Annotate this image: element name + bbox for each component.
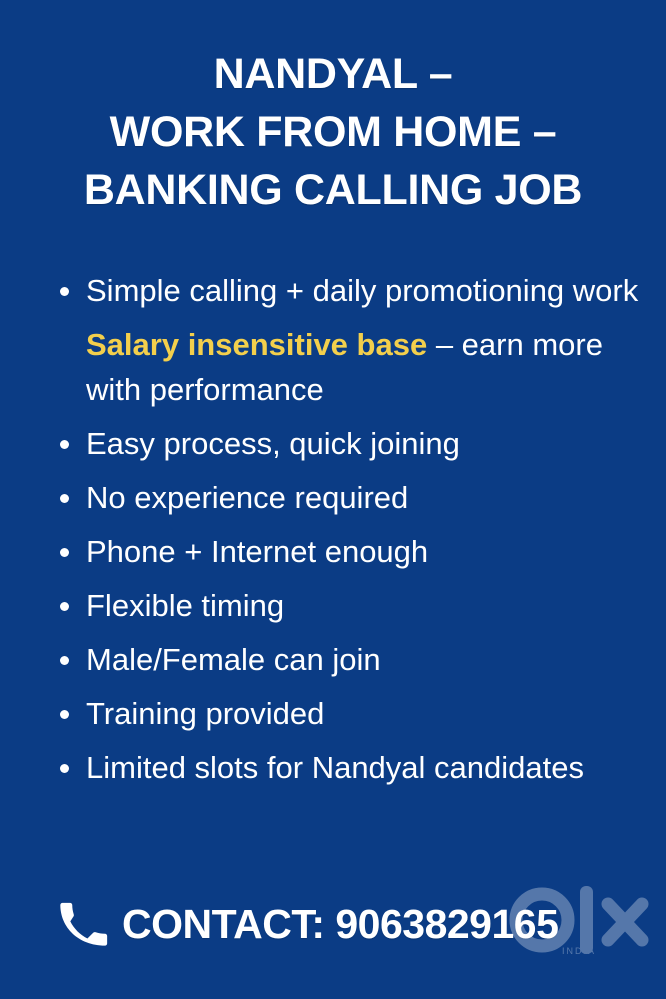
list-item-salary: Salary insensitive base – earn more with… bbox=[50, 322, 650, 412]
bullet-dot-icon bbox=[60, 548, 69, 557]
title-line-3: BANKING CALLING JOB bbox=[0, 161, 666, 219]
list-item-label: Training provided bbox=[86, 691, 650, 736]
bullet-dot-icon bbox=[60, 287, 69, 296]
job-advert-poster: NANDYAL – WORK FROM HOME – BANKING CALLI… bbox=[0, 0, 666, 999]
bullet-dot-icon bbox=[60, 494, 69, 503]
list-item-label: No experience required bbox=[86, 475, 650, 520]
list-item: No experience required bbox=[50, 475, 650, 520]
list-item-label: Easy process, quick joining bbox=[86, 421, 650, 466]
bullet-dot-icon bbox=[60, 440, 69, 449]
list-item: Training provided bbox=[50, 691, 650, 736]
list-item: Easy process, quick joining bbox=[50, 421, 650, 466]
list-item-label: Male/Female can join bbox=[86, 637, 650, 682]
list-item-label: Salary insensitive base – earn more with… bbox=[86, 322, 650, 412]
list-item-label: Phone + Internet enough bbox=[86, 529, 650, 574]
contact-line[interactable]: CONTACT: 9063829165 bbox=[56, 898, 558, 950]
salary-highlight: Salary insensitive base bbox=[86, 327, 427, 362]
watermark-sublabel: INDIA bbox=[562, 946, 596, 956]
list-item: Phone + Internet enough bbox=[50, 529, 650, 574]
bullet-dot-icon bbox=[60, 764, 69, 773]
benefits-list: Simple calling + daily promotioning work… bbox=[50, 268, 650, 799]
bullet-dot-icon bbox=[60, 656, 69, 665]
page-title: NANDYAL – WORK FROM HOME – BANKING CALLI… bbox=[0, 45, 666, 219]
bullet-dot-icon bbox=[60, 602, 69, 611]
contact-text: CONTACT: 9063829165 bbox=[122, 901, 558, 948]
list-item-label: Simple calling + daily promotioning work bbox=[86, 268, 650, 313]
list-item-label: Flexible timing bbox=[86, 583, 650, 628]
phone-icon bbox=[56, 898, 108, 950]
title-line-1: NANDYAL – bbox=[0, 45, 666, 103]
list-item: Male/Female can join bbox=[50, 637, 650, 682]
list-item: Simple calling + daily promotioning work bbox=[50, 268, 650, 313]
list-item: Flexible timing bbox=[50, 583, 650, 628]
bullet-dot-icon bbox=[60, 710, 69, 719]
list-item-label: Limited slots for Nandyal candidates bbox=[86, 745, 650, 790]
title-line-2: WORK FROM HOME – bbox=[0, 103, 666, 161]
list-item: Limited slots for Nandyal candidates bbox=[50, 745, 650, 790]
